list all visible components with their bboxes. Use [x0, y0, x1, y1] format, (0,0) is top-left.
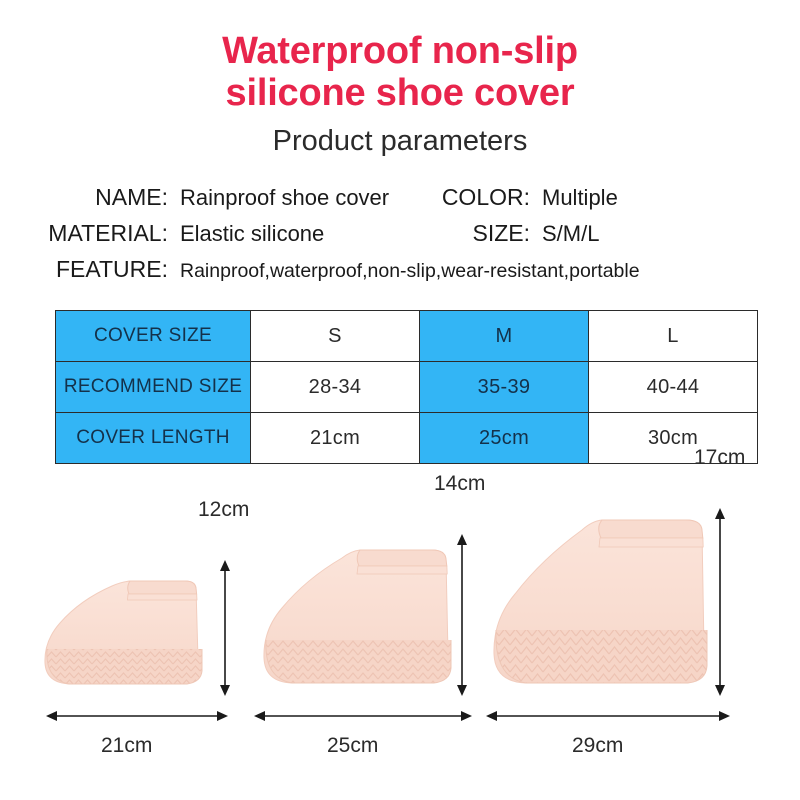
spec-label-material: MATERIAL:: [18, 220, 168, 247]
size-table-container: COVER SIZE S M L RECOMMEND SIZE 28-34 35…: [55, 310, 745, 464]
height-label-small: 12cm: [198, 498, 249, 522]
shoe-illustration-large: [488, 502, 728, 698]
length-label-large: 29cm: [572, 734, 623, 758]
page-subtitle: Product parameters: [0, 120, 800, 162]
height-arrow-medium: [452, 532, 472, 698]
height-label-large: 17cm: [694, 446, 745, 470]
shoe-collar-small: [128, 581, 197, 594]
title-block: Waterproof non-slip silicone shoe cover …: [0, 0, 800, 162]
table-cell-m: 25cm: [420, 413, 589, 464]
length-label-medium: 25cm: [327, 734, 378, 758]
table-cell-s: 28-34: [251, 362, 420, 413]
shoe-illustration-medium: [258, 528, 470, 698]
spec-value-color: Multiple: [530, 185, 618, 211]
spec-row-name-color: NAME: Rainproof shoe cover COLOR: Multip…: [18, 184, 782, 220]
shoe-collar-large: [599, 520, 703, 538]
table-row: COVER LENGTH 21cm 25cm 30cm: [56, 413, 758, 464]
spec-label-feature: FEATURE:: [18, 256, 168, 283]
table-row-header: COVER SIZE: [56, 311, 251, 362]
spec-label-color: COLOR:: [438, 184, 530, 211]
page-title-line-1: Waterproof non-slip: [0, 30, 800, 72]
height-arrow-small: [215, 558, 235, 698]
length-label-small: 21cm: [101, 734, 152, 758]
spec-value-material: Elastic silicone: [168, 221, 438, 247]
spec-value-feature: Rainproof,waterproof,non-slip,wear-resis…: [168, 260, 640, 283]
shoe-sole-texture-medium: [258, 636, 470, 688]
height-label-medium: 14cm: [434, 472, 485, 496]
length-arrow-medium: [252, 708, 474, 724]
table-row: RECOMMEND SIZE 28-34 35-39 40-44: [56, 362, 758, 413]
table-cell-m: 35-39: [420, 362, 589, 413]
table-row-header: RECOMMEND SIZE: [56, 362, 251, 413]
spec-label-name: NAME:: [18, 184, 168, 211]
table-cell-m: M: [420, 311, 589, 362]
spec-label-size: SIZE:: [438, 220, 530, 247]
shoe-figure-small: [38, 553, 218, 698]
shoe-figure-large: [488, 502, 728, 698]
size-chart-table: COVER SIZE S M L RECOMMEND SIZE 28-34 35…: [55, 310, 758, 464]
table-cell-s: 21cm: [251, 413, 420, 464]
shoe-collar-fold-small: [128, 594, 198, 600]
table-cell-l: 40-44: [589, 362, 758, 413]
shoe-figure-medium: [258, 528, 470, 698]
page-title-line-2: silicone shoe cover: [0, 72, 800, 114]
table-row-header: COVER LENGTH: [56, 413, 251, 464]
spec-value-size: S/M/L: [530, 221, 599, 247]
table-row: COVER SIZE S M L: [56, 311, 758, 362]
product-specs: NAME: Rainproof shoe cover COLOR: Multip…: [0, 184, 800, 292]
length-arrow-small: [44, 708, 230, 724]
spec-row-feature: FEATURE: Rainproof,waterproof,non-slip,w…: [18, 256, 782, 292]
shoe-sole-texture-large: [488, 626, 728, 686]
height-arrow-large: [710, 506, 730, 698]
shoe-collar-fold-medium: [357, 566, 447, 574]
shoe-figures: 12cm 21cm: [0, 486, 800, 746]
spec-value-name: Rainproof shoe cover: [168, 185, 438, 211]
shoe-collar-medium: [357, 550, 447, 566]
length-arrow-large: [484, 708, 732, 724]
table-cell-l: L: [589, 311, 758, 362]
shoe-collar-fold-large: [599, 538, 703, 547]
shoe-illustration-small: [38, 553, 218, 698]
spec-row-material-size: MATERIAL: Elastic silicone SIZE: S/M/L: [18, 220, 782, 256]
table-cell-s: S: [251, 311, 420, 362]
